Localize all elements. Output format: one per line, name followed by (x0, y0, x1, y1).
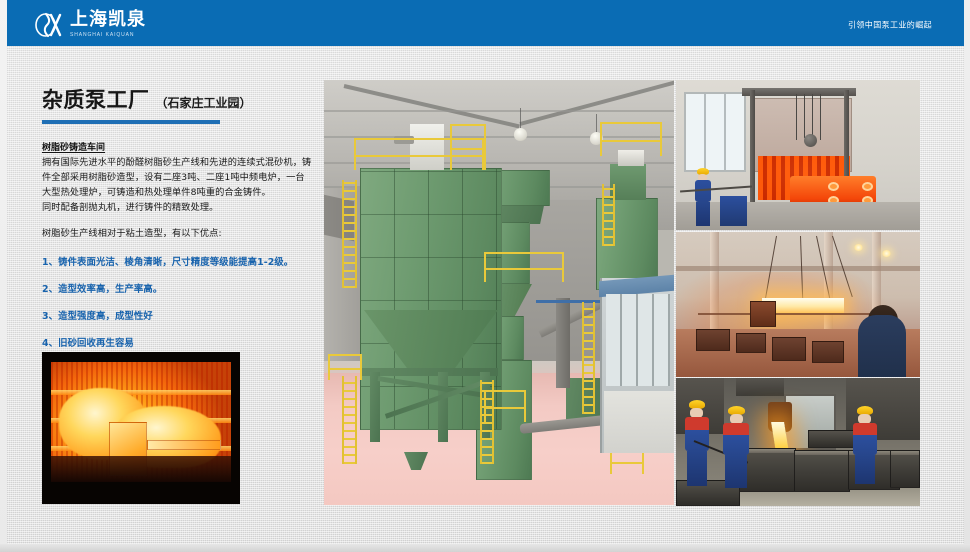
paragraph-2: 同时配备剖抛丸机，进行铸件的精致处理。 (42, 200, 312, 215)
safety-ladder (342, 376, 357, 464)
brand-name-en: SHANGHAI KAIQUAN (70, 31, 146, 39)
photo-pouring-molten-metal (676, 378, 920, 506)
lamp-wire (596, 114, 597, 134)
list-item: 3、造型强度高，成型性好 (42, 308, 312, 322)
worker-legs (725, 455, 747, 488)
crane-cable (820, 94, 821, 140)
photo-resin-sand-line-workshop (324, 80, 674, 505)
mold-box (772, 337, 806, 361)
mold-box-rim (891, 451, 919, 455)
crane-cable (796, 94, 797, 140)
ladle-stand (750, 301, 776, 327)
crane-hook (804, 134, 817, 147)
photo-furnace-interior (42, 352, 240, 504)
worker-figure (694, 168, 712, 226)
furnace-room-floor (676, 202, 920, 230)
list-item: 1、铸件表面光洁、棱角清晰，尺寸精度等级能提高1-2级。 (42, 254, 312, 268)
mold-box (736, 333, 766, 353)
casting-bore (828, 182, 839, 191)
title-underline-rule (42, 120, 220, 124)
annex-window-panes (606, 294, 670, 386)
photo-heat-treatment-furnace (676, 80, 920, 230)
ceiling-lamp-icon (882, 250, 891, 257)
right-edge-strip (964, 0, 970, 552)
railing-midbar (452, 148, 484, 150)
furnace-room-window (684, 92, 746, 172)
overhead-beam (736, 378, 784, 396)
casting-bore (862, 182, 873, 191)
safety-ladder (582, 302, 595, 414)
roof-truss (344, 84, 520, 128)
ceiling-lamp-icon (854, 244, 863, 251)
mold-box-rim (795, 451, 849, 455)
list-item: 4、旧砂回收再生容易 (42, 335, 312, 349)
page-header: 上海凯泉 SHANGHAI KAIQUAN 引领中国泵工业的崛起 (0, 4, 970, 46)
page-title-main: 杂质泵工厂 (42, 84, 150, 114)
kaiquan-circle-logo-icon (33, 10, 63, 40)
crane-cable (812, 94, 813, 138)
railing-midbar (486, 268, 562, 270)
furnace-chamber-glow (51, 362, 231, 482)
hot-casting-bar (147, 440, 221, 450)
worker-torso (853, 423, 877, 455)
furnace-hearth-shadow (51, 456, 231, 482)
railing-midbar (486, 407, 524, 409)
safety-railing (450, 124, 486, 170)
roof-truss (676, 266, 920, 271)
left-edge-strip (0, 0, 7, 552)
page-title-subtitle: （石家庄工业园） (156, 94, 252, 111)
photo-crane-lifting-hot-billet (676, 232, 920, 377)
worker-figure (734, 196, 747, 226)
brand-name-cn: 上海凯泉 (70, 11, 146, 29)
worker-legs (696, 202, 710, 226)
foreground-worker-body (858, 315, 906, 377)
worker-figure (720, 196, 734, 226)
railing-midbar (612, 462, 642, 464)
vertical-duct (556, 298, 570, 388)
railing-midbar (602, 140, 660, 142)
crane-crossbeam (742, 88, 856, 96)
silo-support-beam (362, 368, 498, 376)
roof-purlin (324, 110, 674, 112)
safety-ladder (342, 180, 357, 288)
right-tower-head (610, 164, 646, 200)
content-left-column: 杂质泵工厂 （石家庄工业园） 树脂砂铸造车间 拥有国际先进水平的酚醛树脂砂生产线… (42, 84, 314, 349)
section-heading: 树脂砂铸造车间 (42, 140, 312, 153)
lamp-wire (520, 108, 521, 130)
mold-box (812, 341, 844, 363)
worker-figure (722, 406, 750, 488)
safety-railing (328, 354, 362, 380)
pendant-lamp-icon (514, 128, 527, 141)
worker-torso (723, 423, 749, 455)
sand-mold-box (890, 450, 920, 488)
brand-wordmark: 上海凯泉 SHANGHAI KAIQUAN (70, 11, 146, 39)
slide-canvas: 上海凯泉 SHANGHAI KAIQUAN 引领中国泵工业的崛起 杂质泵工厂 （… (0, 0, 970, 552)
railing-midbar (330, 368, 360, 370)
safety-railing (600, 122, 662, 156)
crane-cable (804, 94, 805, 138)
bottom-edge-strip (0, 544, 970, 552)
list-item: 2、造型效率高，生产率高。 (42, 281, 312, 295)
advantages-list: 1、铸件表面光洁、棱角清晰，尺寸精度等级能提高1-2级。 2、造型效率高，生产率… (42, 254, 312, 349)
paragraph-3: 树脂砂生产线相对于粘土造型，有以下优点: (42, 226, 312, 241)
safety-railing (484, 252, 564, 282)
sand-mold-box (794, 450, 850, 492)
brand-logo[interactable]: 上海凯泉 SHANGHAI KAIQUAN (33, 10, 146, 40)
worker-legs (687, 451, 707, 486)
header-tagline: 引领中国泵工业的崛起 (848, 20, 932, 31)
worker-figure (852, 406, 878, 484)
silo-leg (370, 372, 380, 442)
silo-leg (438, 372, 448, 442)
annex-wall-base (604, 391, 674, 453)
body-text-block: 树脂砂铸造车间 拥有国际先进水平的酚醛树脂砂生产线和先进的连续式混砂机，铸件全部… (42, 140, 312, 349)
mold-box (696, 329, 730, 351)
worker-legs (855, 455, 875, 484)
paragraph-1: 拥有国际先进水平的酚醛树脂砂生产线和先进的连续式混砂机，铸件全部采用树脂砂造型，… (42, 155, 312, 200)
safety-railing (484, 390, 526, 422)
furnace-frame-left (750, 90, 755, 218)
page-title: 杂质泵工厂 （石家庄工业园） (42, 84, 314, 114)
safety-ladder (602, 184, 615, 246)
workshop-office-annex (600, 278, 674, 453)
